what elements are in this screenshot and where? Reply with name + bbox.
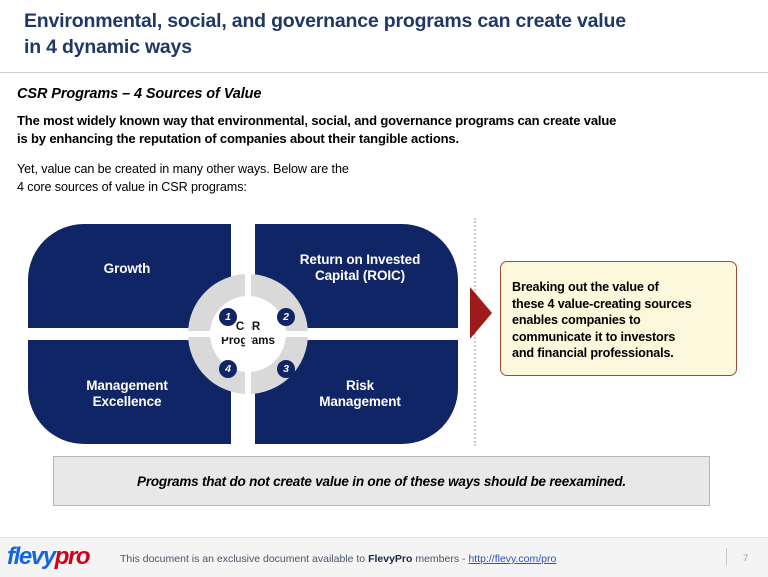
flevypro-link[interactable]: http://flevy.com/pro [468,553,556,565]
section-subtitle: CSR Programs – 4 Sources of Value [17,86,261,102]
hub-gap-horizontal [182,331,314,337]
page-title: Environmental, social, and governance pr… [24,8,744,60]
footer-note-brand: FlevyPro [368,553,412,565]
footer-note: This document is an exclusive document a… [120,553,556,565]
secondary-paragraph: Yet, value can be created in many other … [17,160,487,196]
page-number: 7 [743,553,748,564]
footer-note-middle: members - [412,553,468,565]
logo-text-pro: pro [55,543,89,570]
badge-number-3: 3 [277,360,295,378]
flevypro-logo: flevypro [7,545,89,569]
lead-paragraph: The most widely known way that environme… [17,112,741,148]
callout-text: Breaking out the value of these 4 value-… [512,279,726,362]
footer-divider [726,548,727,566]
badge-number-1: 1 [219,308,237,326]
quadrant-growth-label: Growth [52,261,202,277]
four-quadrant-diagram: Growth Return on Invested Capital (ROIC)… [28,224,458,444]
callout-box: Breaking out the value of these 4 value-… [500,261,737,376]
badge-number-4: 4 [219,360,237,378]
logo-text-flevy: flevy [7,543,55,570]
bottom-note-text: Programs that do not create value in one… [137,474,626,489]
badge-number-2: 2 [277,308,295,326]
quadrant-roic-label: Return on Invested Capital (ROIC) [285,252,435,284]
quadrant-management-excellence-label: Management Excellence [52,378,202,410]
quadrant-risk-management-label: Risk Management [285,378,435,410]
title-divider [0,72,768,73]
bottom-note-banner: Programs that do not create value in one… [53,456,710,506]
right-arrow-icon [470,287,492,339]
footer-note-prefix: This document is an exclusive document a… [120,553,368,565]
